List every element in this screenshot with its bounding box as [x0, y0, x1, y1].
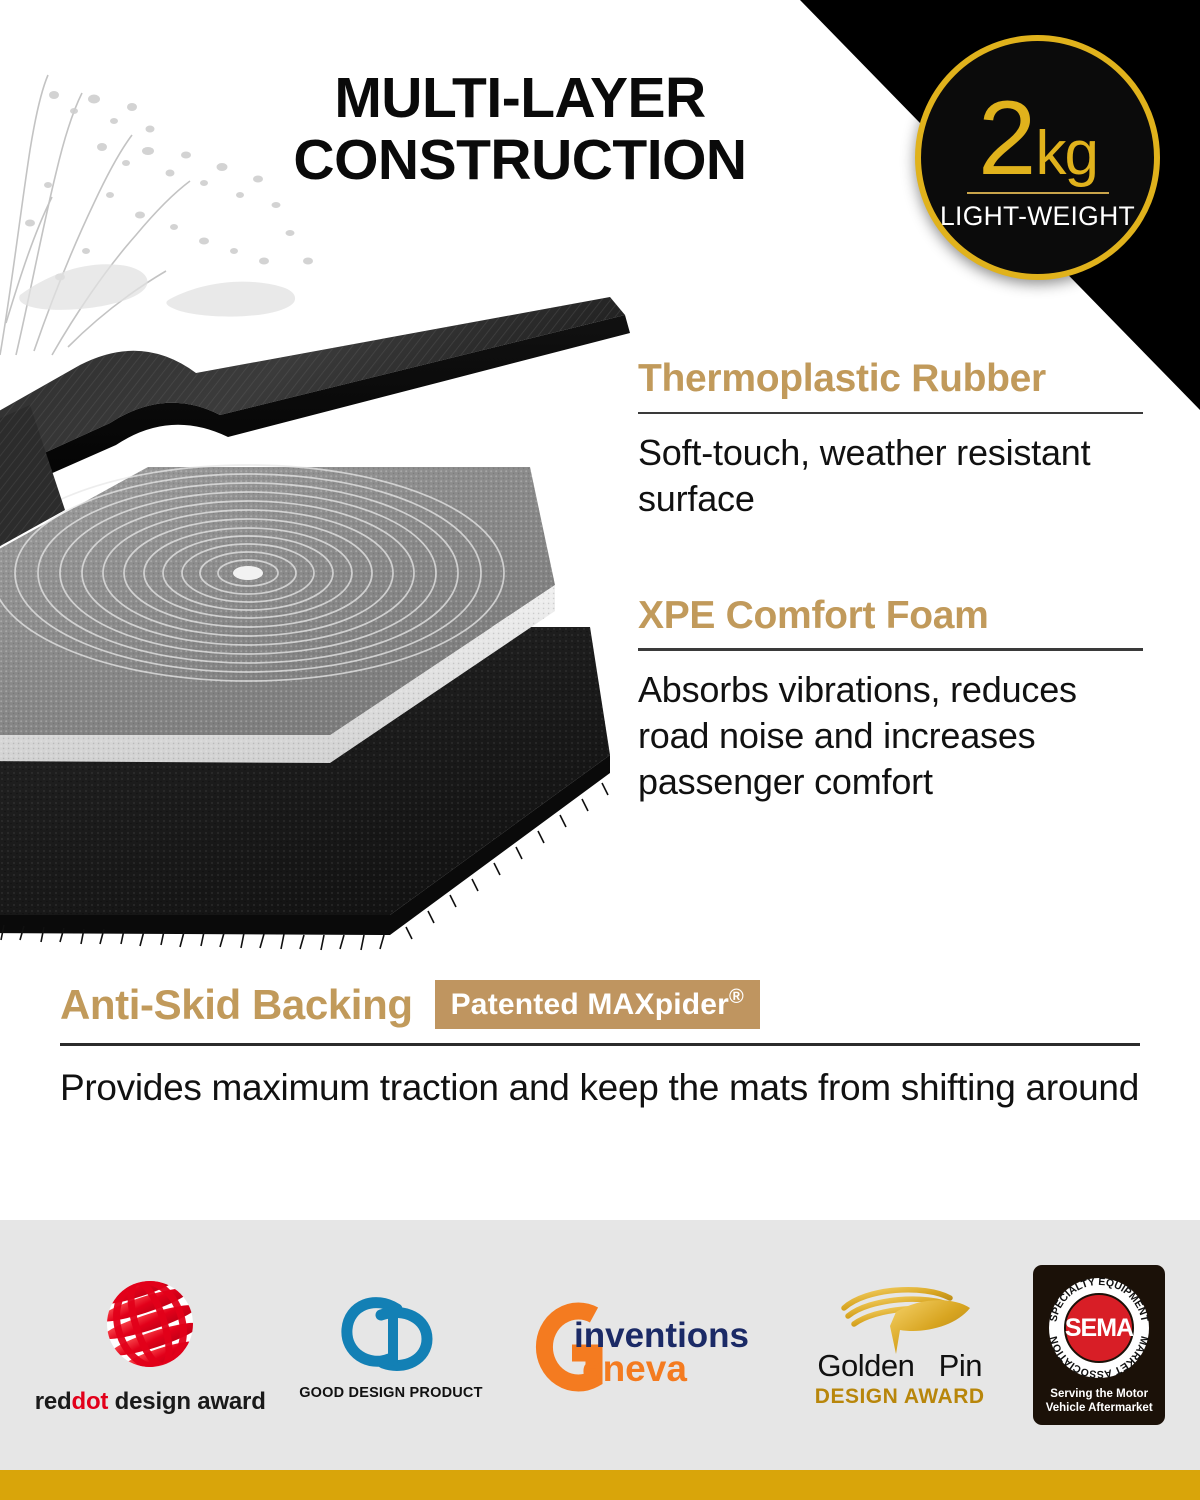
- feature-divider: [638, 412, 1143, 415]
- award-caption: reddot design award: [35, 1388, 266, 1416]
- golden-pin-icon: [800, 1282, 1000, 1354]
- good-design-gd-icon: [335, 1289, 447, 1379]
- water-splash-svg: [0, 55, 350, 385]
- sema-badge: SPECIALTY EQUIPMENT MARKET ASSOCIATION S…: [1033, 1265, 1165, 1425]
- weight-badge: 2 kg LIGHT-WEIGHT: [915, 35, 1160, 280]
- feature-heading: Thermoplastic Rubber: [638, 358, 1143, 412]
- weight-caption: LIGHT-WEIGHT: [940, 201, 1135, 232]
- badge-divider: [967, 192, 1109, 194]
- reddot-text-dot: dot: [72, 1388, 109, 1415]
- sema-seal-icon: SPECIALTY EQUIPMENT MARKET ASSOCIATION S…: [1043, 1272, 1155, 1384]
- weight-unit: kg: [1035, 125, 1096, 184]
- anti-skid-body: Provides maximum traction and keep the m…: [60, 1064, 1140, 1112]
- feature-divider: [638, 648, 1143, 651]
- patented-maxpider-badge: Patented MAXpider®: [435, 980, 760, 1029]
- sema-tagline-1: Serving the Motor: [1046, 1387, 1153, 1401]
- water-splash-effect: [0, 55, 350, 385]
- golden-word: Golden: [817, 1348, 914, 1383]
- weight-number: 2: [978, 89, 1034, 189]
- golden-pin-name: Golden Pin: [817, 1350, 982, 1381]
- award-reddot-design-award: reddot design award: [35, 1274, 266, 1416]
- feature-heading: XPE Comfort Foam: [638, 595, 1143, 649]
- feature-xpe-comfort-foam: XPE Comfort Foam Absorbs vibrations, red…: [638, 595, 1143, 806]
- patent-badge-text: Patented MAXpider: [451, 988, 729, 1021]
- awards-footer: reddot design award GOOD DESIGN PRODUCT …: [0, 1220, 1200, 1470]
- feature-list: Thermoplastic Rubber Soft-touch, weather…: [638, 358, 1143, 805]
- sema-tagline-2: Vehicle Aftermarket: [1046, 1401, 1153, 1415]
- sema-tagline: Serving the Motor Vehicle Aftermarket: [1046, 1387, 1153, 1415]
- award-golden-pin-design-award: Golden Pin DESIGN AWARD: [800, 1282, 1000, 1409]
- registered-trademark-icon: ®: [729, 986, 744, 1008]
- inventions-geneva-logo: inventions eneva: [516, 1295, 766, 1395]
- reddot-sphere-icon: [96, 1274, 204, 1380]
- geneva-word: eneva: [582, 1348, 687, 1389]
- reddot-text-red: red: [35, 1388, 72, 1415]
- feature-body: Absorbs vibrations, reduces road noise a…: [638, 667, 1143, 805]
- feature-body: Soft-touch, weather resistant surface: [638, 430, 1143, 522]
- anti-skid-divider: [60, 1043, 1140, 1046]
- feature-anti-skid-backing: Anti-Skid Backing Patented MAXpider® Pro…: [60, 980, 1140, 1112]
- sema-wordmark: SEMA: [1065, 1314, 1134, 1342]
- anti-skid-heading: Anti-Skid Backing: [60, 984, 413, 1026]
- pin-word: Pin: [939, 1348, 982, 1383]
- award-caption: GOOD DESIGN PRODUCT: [299, 1385, 482, 1401]
- award-caption: DESIGN AWARD: [815, 1385, 985, 1409]
- anti-skid-heading-row: Anti-Skid Backing Patented MAXpider®: [60, 980, 1140, 1029]
- reddot-text-suffix: design award: [108, 1388, 265, 1415]
- feature-thermoplastic-rubber: Thermoplastic Rubber Soft-touch, weather…: [638, 358, 1143, 523]
- weight-value: 2 kg: [978, 89, 1097, 189]
- bottom-gold-bar: [0, 1470, 1200, 1500]
- award-sema: SPECIALTY EQUIPMENT MARKET ASSOCIATION S…: [1033, 1265, 1165, 1425]
- award-inventions-geneva: inventions eneva: [516, 1295, 766, 1395]
- award-good-design-product: GOOD DESIGN PRODUCT: [299, 1289, 482, 1401]
